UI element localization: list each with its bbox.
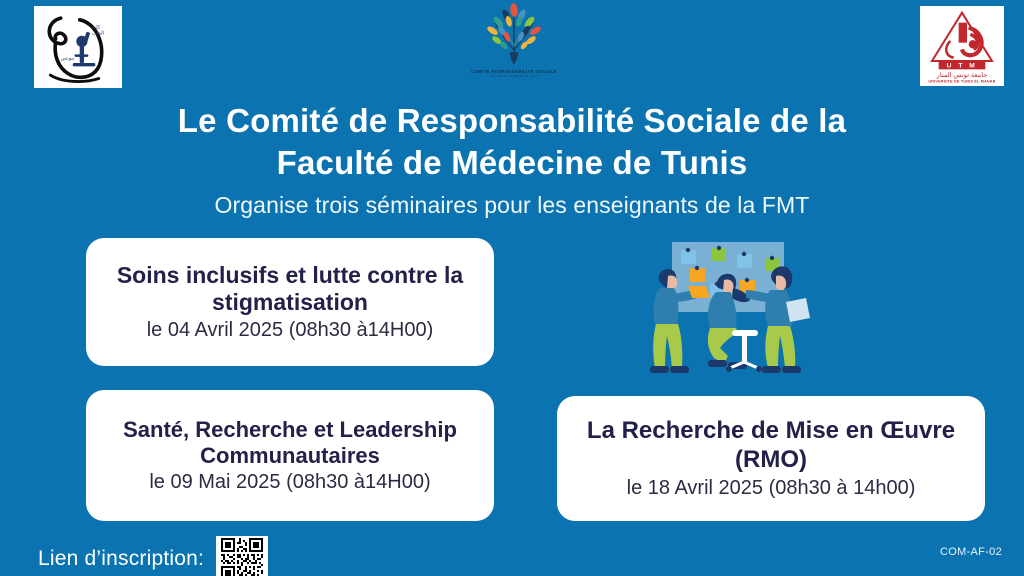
svg-text:جامعة تونس المنار: جامعة تونس المنار: [936, 71, 988, 79]
comite-responsabilite-sociale-logo: COMITE RESPONSABILITE SOCIALE FACULTE DE…: [462, 2, 566, 98]
qr-code-icon: [218, 538, 266, 576]
seminar-card-soins-inclusifs: Soins inclusifs et lutte contre la stigm…: [86, 238, 494, 366]
svg-text:كلية: كلية: [92, 24, 101, 30]
seminar-date: le 18 Avril 2025 (08h30 à 14h00): [627, 476, 916, 500]
page-title: Le Comité de Responsabilité Sociale de l…: [0, 100, 1024, 184]
poster-header: Le Comité de Responsabilité Sociale de l…: [0, 100, 1024, 221]
crs-logo-subcaption: FACULTE DE MEDECINE DE TUNIS: [490, 75, 539, 79]
seminar-card-sante-recherche-leadership: Santé, Recherche et Leadership Communaut…: [86, 390, 494, 521]
title-line-2: Faculté de Médecine de Tunis: [277, 144, 748, 181]
title-line-1: Le Comité de Responsabilité Sociale de l…: [178, 102, 846, 139]
seminar-announcement-poster: كلية الطب بتونس: [0, 0, 1024, 576]
seminar-date: le 09 Mai 2025 (08h30 à14H00): [149, 470, 430, 494]
fmt-logo-icon: كلية الطب بتونس: [34, 6, 122, 88]
team-brainstorming-sticky-notes-illustration: [632, 232, 848, 387]
universite-de-tunis-el-manar-logo: U T M جامعة تونس المنار UNIVERSITE DE TU…: [920, 6, 1004, 86]
seminar-title: La Recherche de Mise en Œuvre (RMO): [571, 417, 971, 474]
seminar-date: le 04 Avril 2025 (08h30 à14H00): [147, 318, 434, 342]
lightbulb-tree-icon: [471, 2, 557, 68]
faculte-de-medecine-de-tunis-logo: كلية الطب بتونس: [34, 6, 122, 88]
svg-text:بتونس: بتونس: [61, 56, 75, 62]
svg-text:الطب: الطب: [92, 30, 104, 36]
document-code: COM-AF-02: [940, 546, 1002, 558]
registration-qr-code[interactable]: [216, 536, 268, 576]
page-subtitle: Organise trois séminaires pour les ensei…: [0, 191, 1024, 221]
seminar-card-recherche-mise-en-oeuvre: La Recherche de Mise en Œuvre (RMO) le 1…: [557, 396, 985, 521]
registration-label: Lien d’inscription:: [38, 547, 204, 571]
registration-link-block: Lien d’inscription:: [38, 536, 268, 576]
seminar-title: Santé, Recherche et Leadership Communaut…: [100, 417, 480, 469]
svg-text:U T M: U T M: [947, 63, 978, 70]
seminar-title: Soins inclusifs et lutte contre la stigm…: [100, 262, 480, 316]
utm-logo-icon: U T M جامعة تونس المنار UNIVERSITE DE TU…: [920, 6, 1004, 86]
svg-text:UNIVERSITE DE TUNIS EL MANAR: UNIVERSITE DE TUNIS EL MANAR: [928, 80, 995, 84]
brainstorming-icon: [632, 232, 848, 387]
